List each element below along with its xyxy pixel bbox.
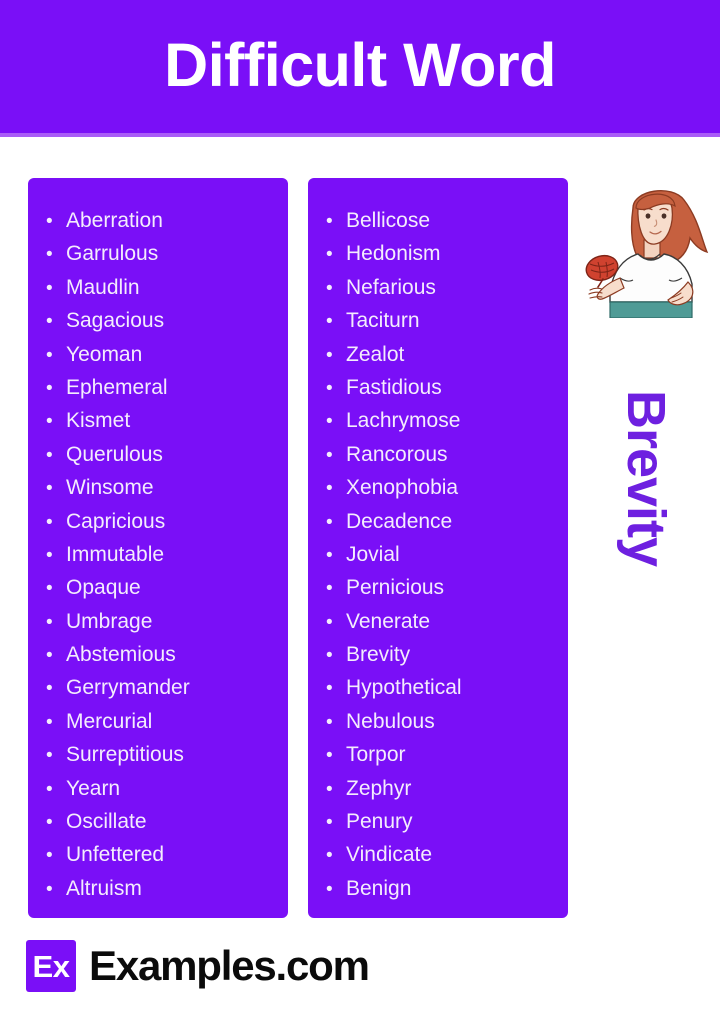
list-item: •Jovial — [326, 538, 558, 571]
bullet-icon: • — [326, 873, 346, 906]
word-label: Immutable — [66, 538, 164, 571]
word-label: Taciturn — [346, 304, 420, 337]
list-item: •Pernicious — [326, 571, 558, 604]
word-label: Abstemious — [66, 638, 176, 671]
list-item: •Vindicate — [326, 838, 558, 871]
bullet-icon: • — [46, 539, 66, 572]
right-word-list: •Bellicose •Hedonism •Nefarious •Tacitur… — [326, 204, 558, 905]
bullet-icon: • — [46, 739, 66, 772]
bullet-icon: • — [326, 806, 346, 839]
list-item: •Immutable — [46, 538, 278, 571]
word-label: Zephyr — [346, 772, 411, 805]
list-item: •Opaque — [46, 571, 278, 604]
word-label: Surreptitious — [66, 738, 184, 771]
logo-mark-label: Ex — [33, 951, 70, 982]
bullet-icon: • — [326, 405, 346, 438]
list-item: •Rancorous — [326, 438, 558, 471]
vertical-highlight-word: Brevity — [619, 390, 673, 566]
list-item: •Zealot — [326, 338, 558, 371]
right-word-card: •Bellicose •Hedonism •Nefarious •Tacitur… — [308, 178, 568, 918]
bullet-icon: • — [326, 706, 346, 739]
bullet-icon: • — [326, 639, 346, 672]
bullet-icon: • — [46, 639, 66, 672]
bullet-icon: • — [326, 539, 346, 572]
site-footer-logo[interactable]: Ex Examples.com — [26, 938, 369, 994]
bullet-icon: • — [326, 506, 346, 539]
word-label: Mercurial — [66, 705, 152, 738]
list-item: •Aberration — [46, 204, 278, 237]
list-item: •Bellicose — [326, 204, 558, 237]
list-item: •Oscillate — [46, 805, 278, 838]
word-label: Hedonism — [346, 237, 441, 270]
word-label: Venerate — [346, 605, 430, 638]
list-item: •Brevity — [326, 638, 558, 671]
word-label: Altruism — [66, 872, 142, 905]
list-item: •Sagacious — [46, 304, 278, 337]
word-label: Penury — [346, 805, 413, 838]
bullet-icon: • — [326, 606, 346, 639]
word-label: Yeoman — [66, 338, 142, 371]
bullet-icon: • — [326, 205, 346, 238]
word-label: Fastidious — [346, 371, 442, 404]
left-word-card: •Aberration •Garrulous •Maudlin •Sagacio… — [28, 178, 288, 918]
bullet-icon: • — [326, 672, 346, 705]
list-item: •Ephemeral — [46, 371, 278, 404]
bullet-icon: • — [46, 506, 66, 539]
bullet-icon: • — [46, 339, 66, 372]
bullet-icon: • — [46, 272, 66, 305]
list-item: •Garrulous — [46, 237, 278, 270]
word-label: Benign — [346, 872, 411, 905]
bullet-icon: • — [46, 839, 66, 872]
list-item: •Benign — [326, 872, 558, 905]
bullet-icon: • — [46, 238, 66, 271]
bullet-icon: • — [46, 372, 66, 405]
word-label: Zealot — [346, 338, 404, 371]
bullet-icon: • — [46, 672, 66, 705]
bullet-icon: • — [326, 572, 346, 605]
word-label: Pernicious — [346, 571, 444, 604]
list-item: •Capricious — [46, 505, 278, 538]
bullet-icon: • — [46, 806, 66, 839]
list-item: •Nebulous — [326, 705, 558, 738]
word-card-group: •Aberration •Garrulous •Maudlin •Sagacio… — [28, 178, 568, 918]
list-item: •Penury — [326, 805, 558, 838]
list-item: •Xenophobia — [326, 471, 558, 504]
header-underline-divider — [0, 133, 720, 137]
bullet-icon: • — [326, 238, 346, 271]
bullet-icon: • — [326, 839, 346, 872]
word-label: Querulous — [66, 438, 163, 471]
bullet-icon: • — [46, 439, 66, 472]
word-label: Yearn — [66, 772, 120, 805]
bullet-icon: • — [46, 773, 66, 806]
word-label: Bellicose — [346, 204, 430, 237]
page-title: Difficult Word — [164, 35, 556, 96]
list-item: •Maudlin — [46, 271, 278, 304]
bullet-icon: • — [326, 272, 346, 305]
word-label: Brevity — [346, 638, 410, 671]
list-item: •Abstemious — [46, 638, 278, 671]
bullet-icon: • — [326, 773, 346, 806]
word-label: Nebulous — [346, 705, 435, 738]
word-label: Ephemeral — [66, 371, 168, 404]
word-label: Kismet — [66, 404, 130, 437]
list-item: •Querulous — [46, 438, 278, 471]
bullet-icon: • — [46, 405, 66, 438]
word-label: Xenophobia — [346, 471, 458, 504]
list-item: •Yeoman — [46, 338, 278, 371]
word-label: Rancorous — [346, 438, 448, 471]
list-item: •Hypothetical — [326, 671, 558, 704]
woman-holding-object-illustration — [576, 178, 716, 318]
word-label: Maudlin — [66, 271, 140, 304]
word-label: Jovial — [346, 538, 400, 571]
word-label: Sagacious — [66, 304, 164, 337]
word-label: Lachrymose — [346, 404, 460, 437]
list-item: •Winsome — [46, 471, 278, 504]
list-item: •Mercurial — [46, 705, 278, 738]
word-label: Unfettered — [66, 838, 164, 871]
word-label: Hypothetical — [346, 671, 462, 704]
list-item: •Taciturn — [326, 304, 558, 337]
bullet-icon: • — [46, 706, 66, 739]
left-word-list: •Aberration •Garrulous •Maudlin •Sagacio… — [46, 204, 278, 905]
bullet-icon: • — [46, 472, 66, 505]
word-label: Vindicate — [346, 838, 432, 871]
bullet-icon: • — [326, 472, 346, 505]
list-item: •Yearn — [46, 772, 278, 805]
word-label: Nefarious — [346, 271, 436, 304]
bullet-icon: • — [46, 205, 66, 238]
list-item: •Surreptitious — [46, 738, 278, 771]
vertical-word-container: Brevity — [576, 323, 716, 653]
word-label: Umbrage — [66, 605, 152, 638]
list-item: •Zephyr — [326, 772, 558, 805]
bullet-icon: • — [46, 305, 66, 338]
bullet-icon: • — [326, 305, 346, 338]
word-label: Winsome — [66, 471, 154, 504]
list-item: •Gerrymander — [46, 671, 278, 704]
bullet-icon: • — [46, 606, 66, 639]
word-label: Oscillate — [66, 805, 147, 838]
list-item: •Kismet — [46, 404, 278, 437]
list-item: •Hedonism — [326, 237, 558, 270]
list-item: •Lachrymose — [326, 404, 558, 437]
word-label: Aberration — [66, 204, 163, 237]
word-label: Garrulous — [66, 237, 158, 270]
word-label: Torpor — [346, 738, 406, 771]
bullet-icon: • — [46, 572, 66, 605]
brand-name: Examples.com — [89, 945, 369, 987]
list-item: •Umbrage — [46, 605, 278, 638]
word-label: Capricious — [66, 505, 165, 538]
bullet-icon: • — [326, 372, 346, 405]
list-item: •Decadence — [326, 505, 558, 538]
list-item: •Nefarious — [326, 271, 558, 304]
bullet-icon: • — [326, 439, 346, 472]
side-column: Brevity — [576, 178, 716, 918]
list-item: •Altruism — [46, 872, 278, 905]
examples-logo-mark: Ex — [26, 940, 76, 992]
page-header: Difficult Word — [0, 0, 720, 133]
word-label: Gerrymander — [66, 671, 190, 704]
word-label: Opaque — [66, 571, 141, 604]
list-item: •Unfettered — [46, 838, 278, 871]
list-item: •Torpor — [326, 738, 558, 771]
bullet-icon: • — [326, 739, 346, 772]
word-label: Decadence — [346, 505, 452, 538]
list-item: •Venerate — [326, 605, 558, 638]
bullet-icon: • — [46, 873, 66, 906]
list-item: •Fastidious — [326, 371, 558, 404]
bullet-icon: • — [326, 339, 346, 372]
